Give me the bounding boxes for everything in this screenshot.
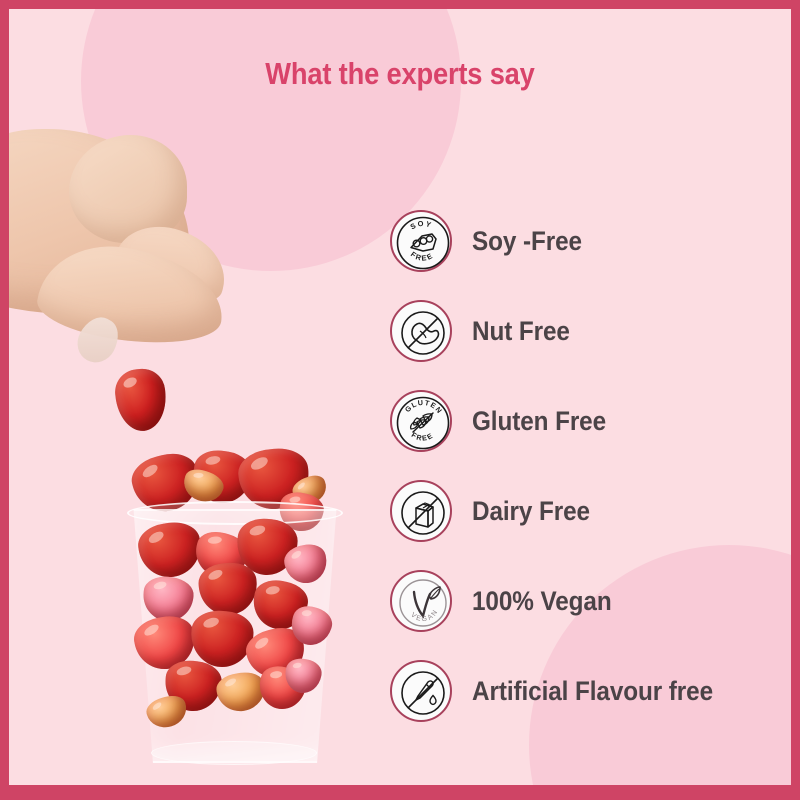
svg-text:SOY: SOY <box>409 219 434 232</box>
claim-label: Soy -Free <box>472 226 582 257</box>
promo-graphic: What the experts say <box>0 0 800 800</box>
claim-row-nut-free: Nut Free <box>390 300 785 362</box>
claims-list: SOY FREE Soy -Free <box>390 210 785 750</box>
claim-row-gluten-free: GLUTEN FREE Gluten Free <box>390 390 785 452</box>
vegan-icon: VEGAN <box>390 570 452 632</box>
glass-base <box>151 741 317 765</box>
svg-text:GLUTEN: GLUTEN <box>403 398 445 416</box>
claim-row-artificial-flavour-free: Artificial Flavour free <box>390 660 785 722</box>
gluten-free-icon: GLUTEN FREE <box>390 390 452 452</box>
claim-label: Artificial Flavour free <box>472 676 713 707</box>
artificial-flavour-free-icon <box>390 660 452 722</box>
held-gummy <box>113 367 169 434</box>
claim-label: Dairy Free <box>472 496 590 527</box>
nut-free-icon <box>390 300 452 362</box>
claim-label: Gluten Free <box>472 406 606 437</box>
claim-label: Nut Free <box>472 316 570 347</box>
claim-row-soy-free: SOY FREE Soy -Free <box>390 210 785 272</box>
claim-label: 100% Vegan <box>472 586 612 617</box>
glass-of-gummies <box>107 449 357 779</box>
product-photo <box>9 9 379 785</box>
soy-free-icon: SOY FREE <box>390 210 452 272</box>
claim-row-vegan: VEGAN 100% Vegan <box>390 570 785 632</box>
hand-illustration <box>9 129 269 429</box>
svg-text:FREE: FREE <box>409 250 435 263</box>
dairy-free-icon <box>390 480 452 542</box>
canvas: What the experts say <box>9 9 791 785</box>
claim-row-dairy-free: Dairy Free <box>390 480 785 542</box>
